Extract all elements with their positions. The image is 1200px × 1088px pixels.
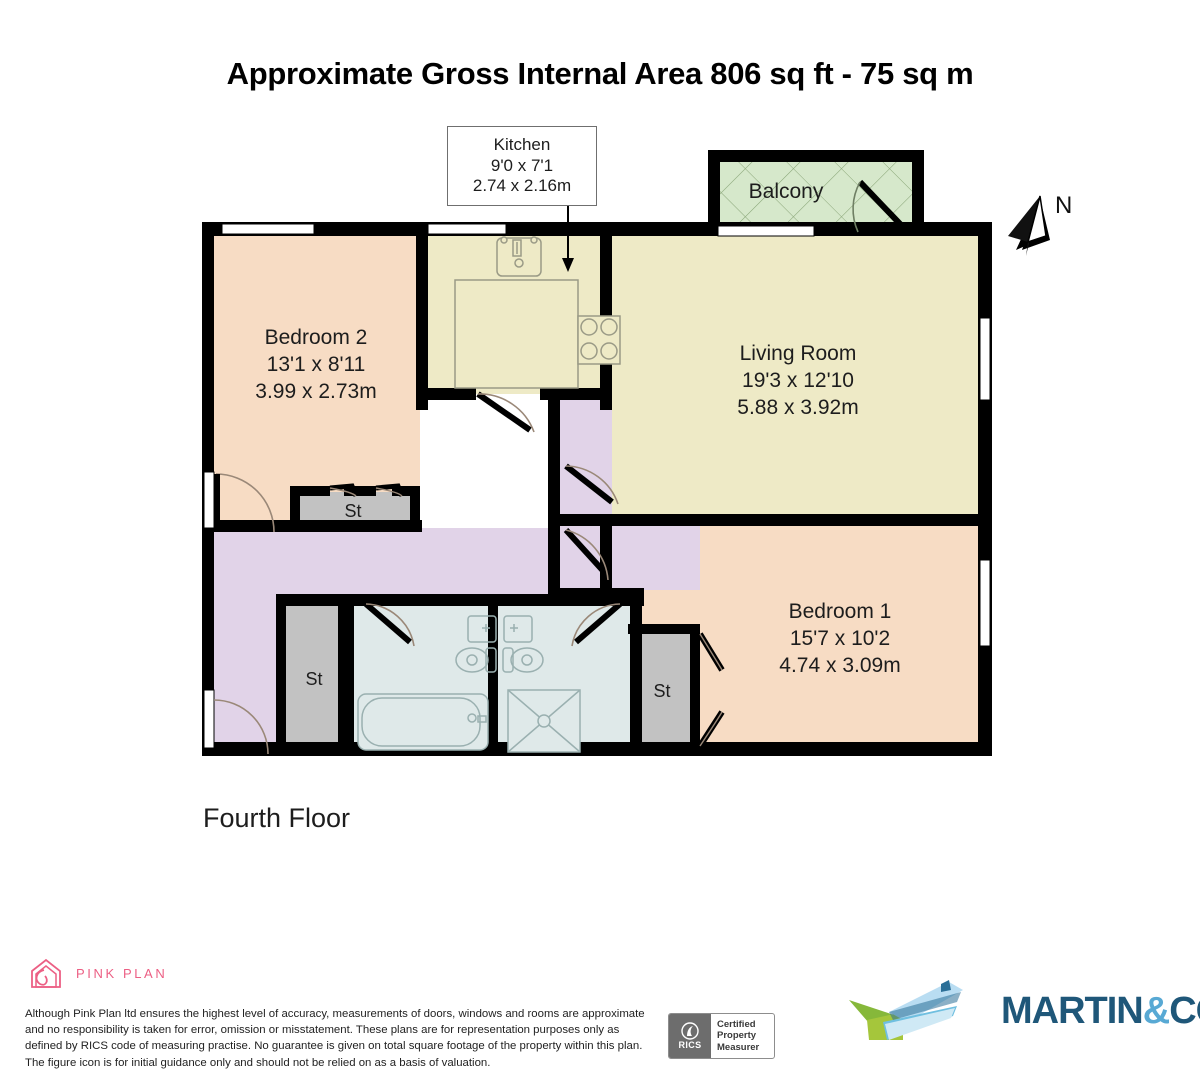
martin-word: MARTIN <box>1001 990 1143 1032</box>
callout-room-name: Kitchen <box>494 135 551 156</box>
window-bedroom2-left <box>204 472 214 528</box>
rics-logo-icon: RICS <box>669 1014 711 1058</box>
rics-badge-text: Certified Property Measurer <box>711 1014 774 1058</box>
rics-line-2: Property <box>717 1030 774 1041</box>
martin-and-co-wordmark: MARTIN&CO <box>1001 990 1200 1033</box>
label-bedroom2-imperial: 13'1 x 8'11 <box>267 353 366 376</box>
rics-emblem-icon <box>679 1022 701 1040</box>
kitchen-callout-box: Kitchen 9'0 x 7'1 2.74 x 2.16m <box>447 126 597 206</box>
shower-drain <box>538 715 550 727</box>
pinkplan-wordmark: PINK PLAN <box>76 966 167 981</box>
window-bedroom1-right <box>980 560 990 646</box>
kitchen-counter-run <box>455 280 578 388</box>
label-storage-bedroom2: St <box>344 501 361 521</box>
room-fill-bedroom2 <box>212 228 420 528</box>
kitchen-sink-knob-right <box>531 237 537 243</box>
kitchen-sink-knob-left <box>501 237 507 243</box>
label-balcony-name: Balcony <box>749 180 824 203</box>
pinkplan-house-icon <box>28 956 64 990</box>
kitchen-tap <box>513 240 521 256</box>
label-storage-hall: St <box>305 669 322 689</box>
floor-label: Fourth Floor <box>203 803 350 834</box>
window-bedroom2-top <box>222 224 314 234</box>
rics-mark-text: RICS <box>678 1040 701 1050</box>
martin-and-co-mark-icon <box>845 978 995 1044</box>
compass-north-letter: N <box>1055 192 1072 220</box>
label-storage-bedroom1: St <box>653 681 670 701</box>
pinkplan-logo: PINK PLAN <box>28 956 167 990</box>
rics-line-1: Certified <box>717 1019 774 1030</box>
co-word: CO <box>1169 990 1200 1032</box>
compass-north-icon <box>1008 196 1050 256</box>
window-kitchen-top <box>428 224 506 234</box>
label-living-metric: 5.88 x 3.92m <box>737 396 858 419</box>
window-living-right <box>980 318 990 400</box>
door-kitchen <box>478 394 534 432</box>
label-bedroom1-metric: 4.74 x 3.09m <box>779 654 900 677</box>
callout-metric: 2.74 x 2.16m <box>473 176 571 197</box>
rics-certified-badge: RICS Certified Property Measurer <box>668 1013 775 1059</box>
rics-line-3: Measurer <box>717 1042 774 1053</box>
label-bedroom1-name: Bedroom 1 <box>789 600 892 623</box>
window-living-balcony-door <box>718 226 814 236</box>
label-living-imperial: 19'3 x 12'10 <box>742 369 854 392</box>
label-living-name: Living Room <box>740 342 857 365</box>
ampersand: & <box>1143 990 1169 1032</box>
label-bedroom2-metric: 3.99 x 2.73m <box>255 380 376 403</box>
kitchen-sink-drain <box>515 259 523 267</box>
bathtub-inner <box>362 698 480 746</box>
callout-imperial: 9'0 x 7'1 <box>491 156 553 177</box>
window-hall-left <box>204 690 214 748</box>
martin-and-co-logo: MARTIN&CO <box>845 978 1200 1044</box>
disclaimer-text: Although Pink Plan ltd ensures the highe… <box>25 1006 655 1071</box>
label-bedroom2-name: Bedroom 2 <box>265 326 368 349</box>
floor-plan-drawing: Bedroom 2 13'1 x 8'11 3.99 x 2.73m Livin… <box>0 0 1200 930</box>
floor-plan-stage: Bedroom 2 13'1 x 8'11 3.99 x 2.73m Livin… <box>0 0 1200 930</box>
label-bedroom1-imperial: 15'7 x 10'2 <box>790 627 890 650</box>
